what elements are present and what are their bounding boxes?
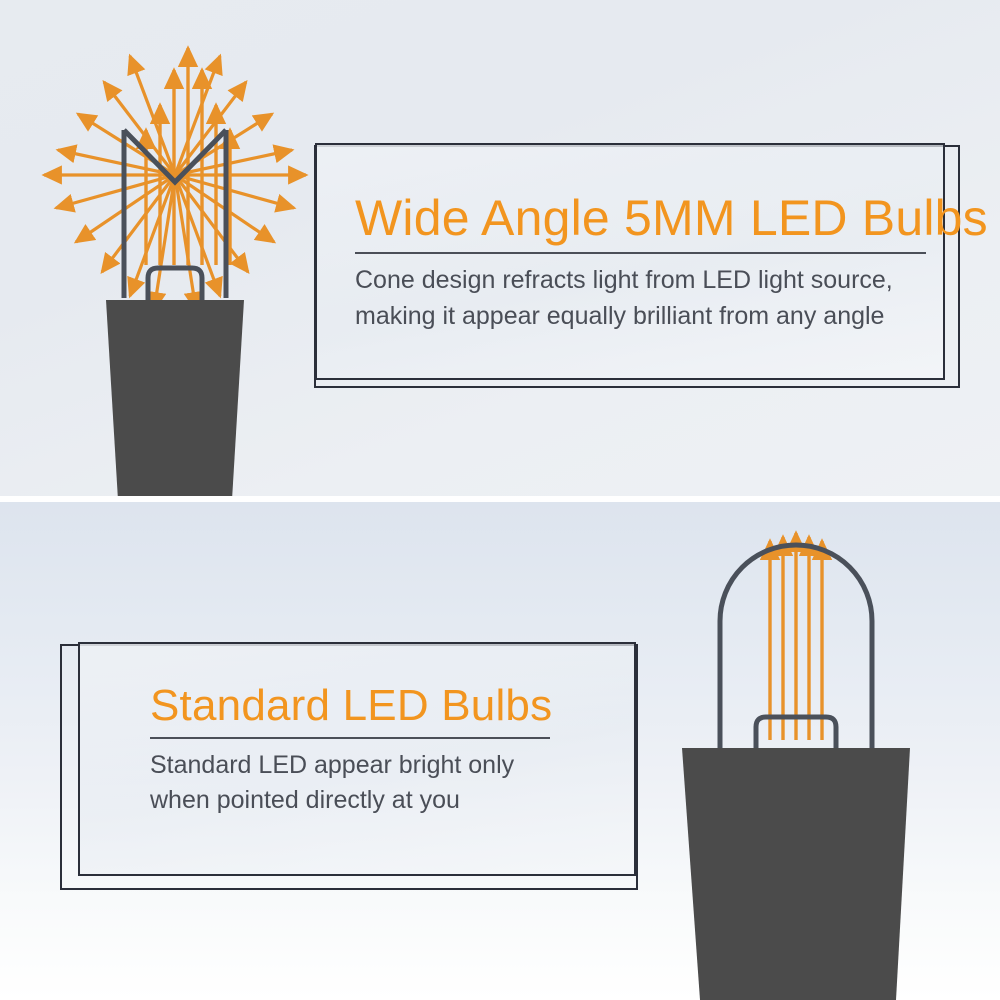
- wide-angle-led-bulb-illustration: [20, 10, 320, 498]
- card-title-wide-angle: Wide Angle 5MM LED Bulbs: [355, 193, 927, 244]
- standard-led-bulb-illustration: [660, 505, 940, 1000]
- card-description-wide-angle: Cone design refracts light from LED ligh…: [355, 263, 927, 334]
- card-content: Wide Angle 5MM LED Bulbs Cone design ref…: [315, 143, 945, 380]
- card-standard: Standard LED Bulbs Standard LED appear b…: [60, 632, 650, 894]
- card-wide-angle: Wide Angle 5MM LED Bulbs Cone design ref…: [300, 133, 960, 388]
- panel-wide-angle: Wide Angle 5MM LED Bulbs Cone design ref…: [0, 0, 1000, 498]
- card-title-standard: Standard LED Bulbs: [150, 684, 618, 729]
- infographic-stage: Wide Angle 5MM LED Bulbs Cone design ref…: [0, 0, 1000, 1000]
- title-divider-rule: [355, 252, 926, 254]
- title-divider-rule: [150, 737, 550, 739]
- card-description-standard: Standard LED appear bright only when poi…: [150, 748, 618, 819]
- card-content: Standard LED Bulbs Standard LED appear b…: [78, 642, 636, 876]
